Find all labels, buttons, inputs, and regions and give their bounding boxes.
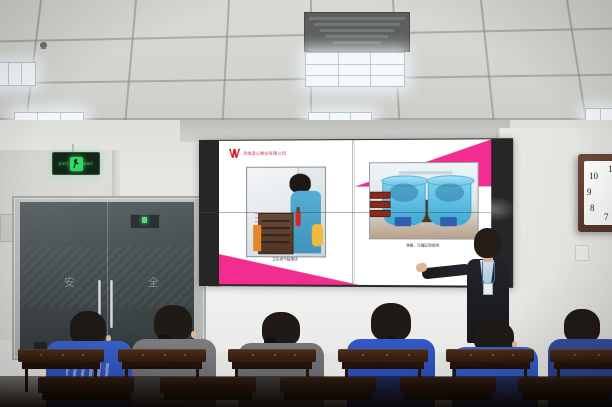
crown-logo-icon [229,148,240,159]
exit-sign-left-label: EXIT [59,161,69,166]
door-status-light [142,217,147,223]
color-tags [370,192,391,219]
conference-room-photo: EXIT EXIT 安 全 11 10 9 8 7 [0,0,612,407]
screen-seam-vertical [352,140,353,286]
company-logo: 济南造心物业有限公司 [229,148,286,159]
emergency-exit-sign: EXIT EXIT [52,152,100,175]
door-character-left: 安 [64,274,75,290]
fire-extinguisher-icon [296,211,301,226]
attendee-head [70,311,106,345]
clock-number-7: 7 [604,212,609,222]
attendee-ear [191,331,196,338]
presenter-badge [483,283,493,295]
foreground-shadow [0,376,612,407]
ceiling-light [0,62,36,86]
bucket-label-clean [440,217,457,226]
power-outlet[interactable] [575,245,589,261]
attendee-head [564,309,600,343]
clock-face: 11 10 9 8 7 [584,161,612,225]
clock-number-9: 9 [587,187,592,197]
wall-clock: 11 10 9 8 7 [578,154,612,232]
clock-number-8: 8 [590,203,595,213]
sprinkler-icon [40,42,47,47]
frosted-glass-band [20,246,194,308]
presenter-lanyard [482,262,495,285]
exit-sign-right-label: EXIT [84,161,94,166]
photo-yellow-glove [312,224,323,246]
clock-number-11: 11 [608,164,612,174]
ceiling-light [305,52,405,87]
screen-black-bar-left [199,140,219,286]
cleaning-cart [258,213,293,254]
hvac-diffuser-icon [304,12,410,52]
running-man-icon [70,157,83,171]
company-name: 济南造心物业有限公司 [243,150,286,156]
bucket-label-dirty [395,217,411,226]
clock-number-10: 10 [589,171,598,181]
presenter-fringe [478,232,499,240]
slide-caption-left: 卫生间气味清洁 [246,257,324,262]
door-character-right: 全 [148,274,159,290]
wall-glare [470,196,518,222]
